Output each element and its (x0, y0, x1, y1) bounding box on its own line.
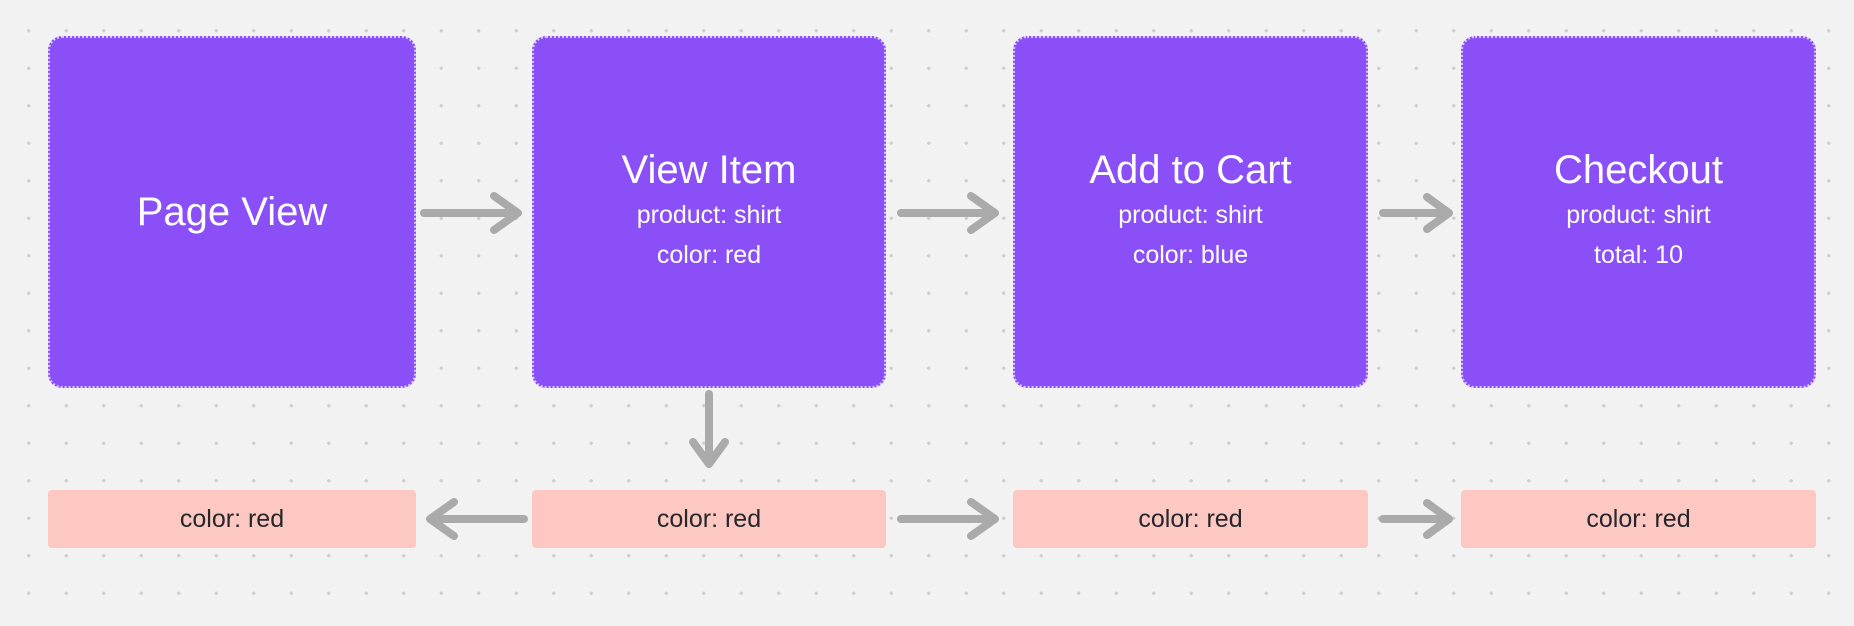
event-node-property: color: red (657, 235, 761, 276)
property-box-label: color: red (657, 505, 761, 534)
event-node-property: product: shirt (1566, 195, 1711, 236)
event-node-add-to-cart[interactable]: Add to Cart product: shirt color: blue (1013, 36, 1368, 388)
property-box-3[interactable]: color: red (1013, 490, 1368, 548)
property-box-label: color: red (1586, 505, 1690, 534)
event-node-title: Page View (137, 190, 328, 235)
property-box-4[interactable]: color: red (1461, 490, 1816, 548)
arrow-property-box-2-to-property-box-1 (416, 496, 532, 542)
arrow-view-item-to-add-to-cart (893, 190, 1009, 236)
event-node-property: total: 10 (1594, 235, 1683, 276)
event-node-checkout[interactable]: Checkout product: shirt total: 10 (1461, 36, 1816, 388)
arrow-add-to-cart-to-checkout (1377, 190, 1463, 236)
event-node-property: product: shirt (1118, 195, 1263, 236)
flow-canvas: Page View View Item product: shirt color… (0, 0, 1854, 626)
arrow-property-box-2-to-property-box-3 (893, 496, 1009, 542)
event-node-title: Add to Cart (1089, 148, 1291, 193)
property-box-1[interactable]: color: red (48, 490, 416, 548)
event-node-property: color: blue (1133, 235, 1248, 276)
arrow-view-item-to-property-box-2 (686, 392, 732, 478)
property-box-label: color: red (180, 505, 284, 534)
event-node-property: product: shirt (637, 195, 782, 236)
event-node-view-item[interactable]: View Item product: shirt color: red (532, 36, 886, 388)
property-box-2[interactable]: color: red (532, 490, 886, 548)
arrow-property-box-3-to-property-box-4 (1377, 496, 1463, 542)
arrow-page-view-to-view-item (416, 190, 532, 236)
property-box-label: color: red (1138, 505, 1242, 534)
event-node-page-view[interactable]: Page View (48, 36, 416, 388)
event-node-title: View Item (622, 148, 797, 193)
event-node-title: Checkout (1554, 148, 1723, 193)
